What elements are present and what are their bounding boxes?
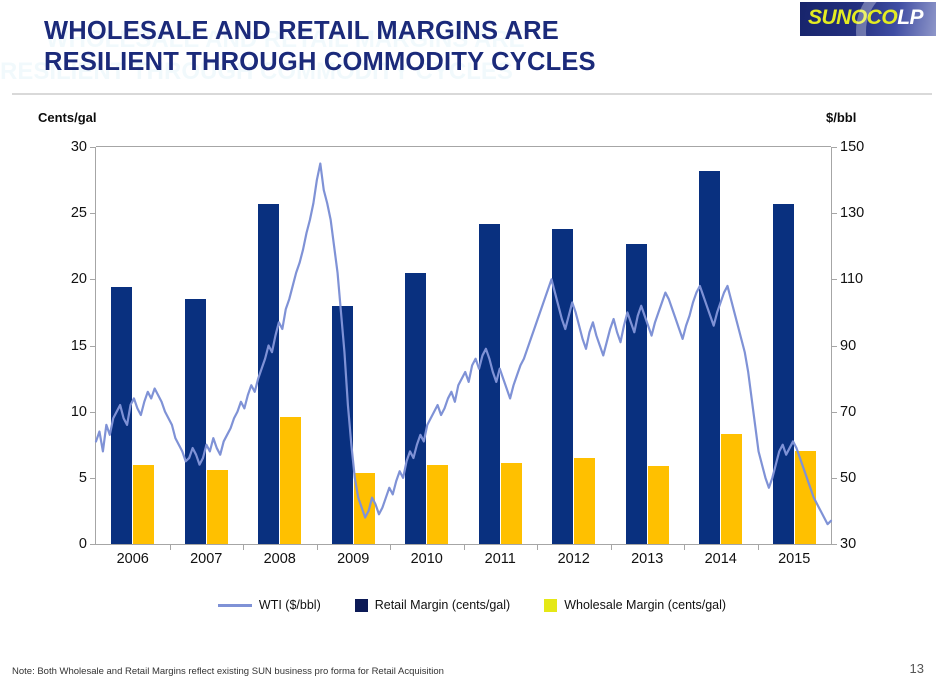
x-axis-tick-2008: 2008 [264,551,296,567]
wti-line-series [96,147,831,544]
legend-item-label: WTI ($/bbl) [259,598,321,612]
logo-brand-text: SUNOCO [808,6,897,29]
right-axis-tickmark-30 [831,544,837,545]
x-axis-separator-2013 [611,544,612,550]
left-axis-tickmark-0 [90,544,96,545]
sunoco-lp-logo: SUNOCOLP [800,2,936,36]
plot-area: 051015202530 30507090110130150 200620072… [95,147,832,545]
x-axis-tick-2006: 2006 [117,551,149,567]
x-axis-separator-2009 [317,544,318,550]
header-divider [12,93,932,95]
slide-header: WHOLESALE AND RETAIL MARGINS ARE RESILIE… [0,0,944,96]
right-axis-tick-130: 130 [840,205,864,221]
x-axis-tick-2009: 2009 [337,551,369,567]
left-axis-title: Cents/gal [38,110,97,125]
left-axis-tick-20: 20 [71,271,87,287]
x-axis-tick-2014: 2014 [705,551,737,567]
right-axis-title: $/bbl [826,110,856,125]
right-axis-tick-90: 90 [840,338,856,354]
page-title: WHOLESALE AND RETAIL MARGINS ARE RESILIE… [44,16,744,78]
right-axis-tick-150: 150 [840,139,864,155]
left-axis-tick-25: 25 [71,205,87,221]
right-axis-tickmark-150 [831,147,837,148]
page-title-line-2: RESILIENT THROUGH COMMODITY CYCLES [44,47,744,78]
margins-chart: Cents/gal $/bbl 051015202530 30507090110… [0,100,944,630]
right-axis-tickmark-110 [831,279,837,280]
legend-item-label: Wholesale Margin (cents/gal) [564,598,726,612]
left-axis-tick-15: 15 [71,338,87,354]
right-axis-tickmark-90 [831,346,837,347]
page-title-line-1: WHOLESALE AND RETAIL MARGINS ARE [44,16,744,47]
logo-wordmark: SUNOCOLP [808,6,923,30]
right-axis-tickmark-70 [831,412,837,413]
wti-line-path [96,164,831,525]
x-axis-tick-2011: 2011 [485,551,516,567]
footnote: Note: Both Wholesale and Retail Margins … [12,666,444,677]
left-axis-tick-10: 10 [71,404,87,420]
x-axis-separator-2011 [464,544,465,550]
right-axis-tick-50: 50 [840,470,856,486]
right-axis-tick-70: 70 [840,404,856,420]
x-axis-separator-2007 [170,544,171,550]
x-axis-tick-2012: 2012 [558,551,590,567]
left-axis-tick-0: 0 [79,536,87,552]
right-axis-tickmark-130 [831,213,837,214]
x-axis-tick-2013: 2013 [631,551,663,567]
x-axis-tick-2015: 2015 [778,551,810,567]
logo-suffix-text: LP [897,6,923,29]
x-axis-separator-2014 [684,544,685,550]
legend-item-2[interactable]: Wholesale Margin (cents/gal) [544,598,726,612]
legend-square-marker-icon [355,599,368,612]
left-axis-tick-30: 30 [71,139,87,155]
legend-item-1[interactable]: Retail Margin (cents/gal) [355,598,510,612]
legend-item-label: Retail Margin (cents/gal) [375,598,510,612]
chart-legend: WTI ($/bbl)Retail Margin (cents/gal)Whol… [0,592,944,618]
x-axis-separator-2010 [390,544,391,550]
x-axis-separator-2015 [758,544,759,550]
x-axis-tick-2010: 2010 [411,551,443,567]
x-axis-separator-2012 [537,544,538,550]
legend-square-marker-icon [544,599,557,612]
page-number: 13 [910,661,924,676]
legend-line-marker-icon [218,604,252,607]
right-axis-tickmark-50 [831,478,837,479]
right-axis-tick-30: 30 [840,536,856,552]
x-axis-separator-2008 [243,544,244,550]
legend-item-0[interactable]: WTI ($/bbl) [218,598,321,612]
left-axis-tick-5: 5 [79,470,87,486]
x-axis-tick-2007: 2007 [190,551,222,567]
right-axis-tick-110: 110 [840,271,863,287]
